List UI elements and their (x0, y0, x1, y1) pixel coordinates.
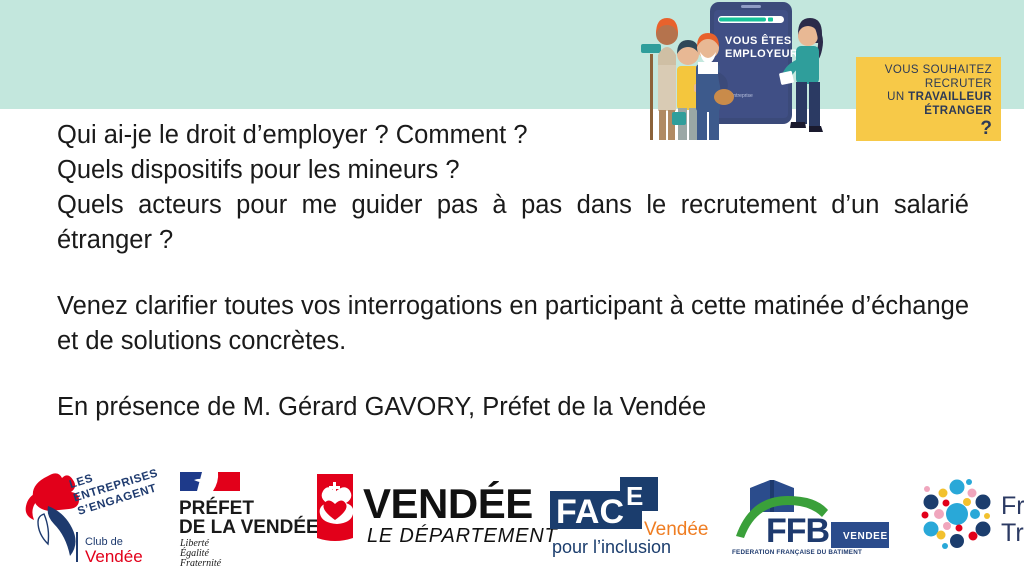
prefet-line-1: PRÉFET (179, 497, 254, 519)
tablet-heading-line2: EMPLOYEUR (725, 48, 798, 60)
france-travail-line-2: Travail (1001, 519, 1024, 547)
prefet-motto-3: Fraternité (179, 558, 222, 569)
logo-ffb-vendee: FFB FEDERATION FRANÇAISE DU BATIMENT VEN… (730, 470, 895, 558)
ffb-mark: FFB (766, 512, 830, 550)
france-travail-dots-icon (922, 479, 991, 549)
slide-body-text: Qui ai-je le droit d’employer ? Comment … (57, 118, 969, 425)
face-tagline: pour l’inclusion (552, 537, 671, 557)
logo-prefet-de-la-vendee: PRÉFET DE LA VENDÉE Liberté Égalité Frat… (172, 464, 297, 564)
text-spacer-2 (57, 359, 969, 390)
marianne-flag-icon (180, 472, 240, 491)
tablet-heading-line1: VOUS ÊTES (725, 34, 792, 47)
badge-line-3: UN TRAVAILLEUR (862, 91, 992, 105)
slide-canvas: VOUS ÊTES EMPLOYEUR Entreprise (0, 0, 1024, 576)
badge-line-3-strong: TRAVAILLEUR (908, 91, 992, 103)
logo-vendee-le-departement: VENDÉE LE DÉPARTEMENT (311, 468, 526, 560)
badge-line-1: VOUS SOUHAITEZ (862, 64, 992, 78)
badge-line-4: ÉTRANGER (862, 105, 992, 119)
question-1: Qui ai-je le droit d’employer ? Comment … (57, 118, 969, 153)
question-3: Quels acteurs pour me guider pas à pas d… (57, 188, 969, 258)
face-mark: FAC (556, 493, 624, 531)
question-2: Quels dispositifs pour les mineurs ? (57, 153, 969, 188)
face-mark-e: E (626, 481, 643, 511)
badge-line-3-prefix: UN (887, 91, 908, 103)
logo-face-pour-linclusion: FAC E Vendée pour l’inclusion (548, 469, 708, 559)
vendee-subtitle: LE DÉPARTEMENT (367, 524, 558, 547)
vendee-heart-emblem-icon (317, 474, 353, 541)
logo-les-entreprises-sengagent: LES ENTREPRISES S’ENGAGENT Club de Vendé… (14, 462, 164, 567)
ffb-expansion: FEDERATION FRANÇAISE DU BATIMENT (732, 549, 862, 556)
badge-line-2: RECRUTER (862, 78, 992, 92)
france-travail-line-1: France (1001, 492, 1024, 520)
logo-france-travail: France Travail (915, 469, 1024, 559)
lee-sub-2: Vendée (85, 547, 143, 566)
prefet-line-2: DE LA VENDÉE (179, 516, 319, 538)
invitation-paragraph: Venez clarifier toutes vos interrogation… (57, 289, 969, 359)
vendee-title: VENDÉE (363, 480, 533, 527)
text-spacer-1 (57, 258, 969, 289)
guest-paragraph: En présence de M. Gérard GAVORY, Préfet … (57, 390, 969, 425)
ffb-region: VENDEE (843, 531, 888, 542)
partner-logo-bar: LES ENTREPRISES S’ENGAGENT Club de Vendé… (0, 452, 1024, 576)
